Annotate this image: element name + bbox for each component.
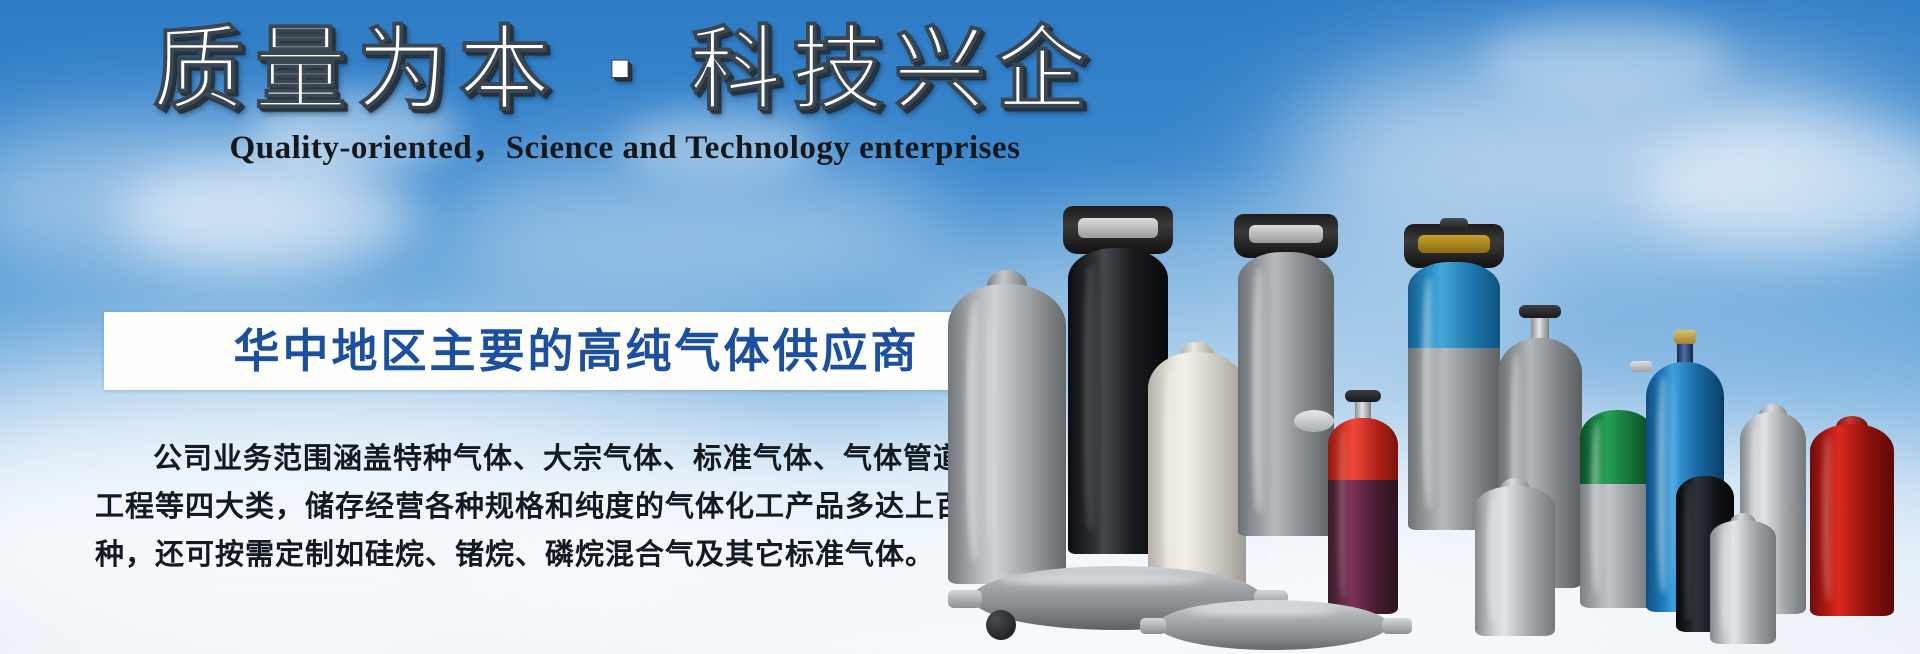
- cylinder-body: [1238, 252, 1334, 536]
- cylinder-grey-large-left: [948, 284, 1066, 584]
- paragraph-line-3: 种，还可按需定制如硅烷、锗烷、磷烷混合气及其它标准气体。: [95, 530, 1055, 578]
- cylinder-aluminium-small: [1475, 486, 1555, 636]
- cylinder-body: [948, 284, 1066, 584]
- cylinder-valve-slot: [1078, 218, 1157, 237]
- cylinder-highlight: [1685, 485, 1693, 619]
- cylinder-highlight: [1823, 436, 1834, 601]
- cylinder-color-band: [1408, 262, 1500, 348]
- cylinder-body: [1158, 600, 1388, 650]
- cylinder-body: [1710, 520, 1776, 644]
- cylinder-body: [1328, 418, 1398, 614]
- hero-banner: 质量为本 · 科技兴企 Quality-oriented，Science and…: [0, 0, 1920, 654]
- cylinder-grey-tall: [1238, 224, 1334, 536]
- cylinder-valve-slot: [1249, 225, 1324, 243]
- cylinder-highlight: [1001, 575, 1204, 585]
- cylinder-highlight: [1721, 527, 1730, 634]
- gas-cylinder-group-photo: [920, 134, 1920, 654]
- cylinder-red-large-right: [1810, 424, 1894, 616]
- cylinder-brass-valve: [1418, 235, 1490, 253]
- cylinder-valve-handle: [1345, 390, 1381, 402]
- cylinder-highlight: [1164, 368, 1177, 592]
- paragraph-line-1: 公司业务范围涵盖特种气体、大宗气体、标准气体、气体管道: [95, 434, 1055, 482]
- page-title: 质量为本 · 科技兴企: [0, 14, 1250, 126]
- slogan-text: 华中地区主要的高纯气体供应商: [234, 325, 920, 377]
- cylinder-highlight: [1488, 495, 1498, 624]
- cylinder-body: [1810, 424, 1894, 616]
- description-paragraph: 公司业务范围涵盖特种气体、大宗气体、标准气体、气体管道 工程等四大类，储存经营各…: [95, 434, 1055, 578]
- cloud-2: [120, 160, 420, 270]
- cylinder-highlight: [1084, 266, 1097, 529]
- cylinder-valve-lever: [1630, 361, 1652, 372]
- cloud-8: [1480, 18, 1730, 98]
- cylinder-highlight: [1423, 278, 1435, 508]
- cylinder-green-band: [1580, 410, 1656, 608]
- cylinder-highlight: [967, 302, 982, 560]
- cylinder-collar: [1063, 206, 1173, 254]
- cylinder-valve-handle: [1519, 305, 1561, 318]
- cylinder-highlight: [1339, 430, 1348, 599]
- cylinder-valve-cap: [1674, 330, 1696, 344]
- cylinder-end-cap-left: [1140, 618, 1166, 634]
- cylinder-aluminium-small-front: [1710, 520, 1776, 644]
- cylinder-valve-handle: [1440, 218, 1468, 230]
- cylinder-body: [1580, 410, 1656, 608]
- slogan-box: 华中地区主要的高纯气体供应商: [104, 312, 1049, 390]
- cylinder-body: [1475, 486, 1555, 636]
- paragraph-line-2: 工程等四大类，储存经营各种规格和纯度的气体化工产品多达上百: [95, 482, 1055, 530]
- cylinder-end-cap-left: [948, 590, 982, 608]
- cylinder-highlight: [1253, 269, 1265, 513]
- cylinder-highlight: [1658, 377, 1668, 592]
- cylinder-highlight: [1186, 607, 1338, 615]
- cylinder-end-cap-right: [1382, 618, 1412, 634]
- cloud-4: [430, 150, 950, 310]
- cylinder-highlight-2: [987, 308, 994, 548]
- cylinder-red-purple-small: [1328, 418, 1398, 614]
- cylinder-horizontal-small: [1158, 596, 1388, 654]
- cylinder-regulator-gauge: [1294, 410, 1334, 432]
- cylinder-highlight: [1592, 422, 1602, 592]
- cylinder-valve-knob: [986, 610, 1016, 640]
